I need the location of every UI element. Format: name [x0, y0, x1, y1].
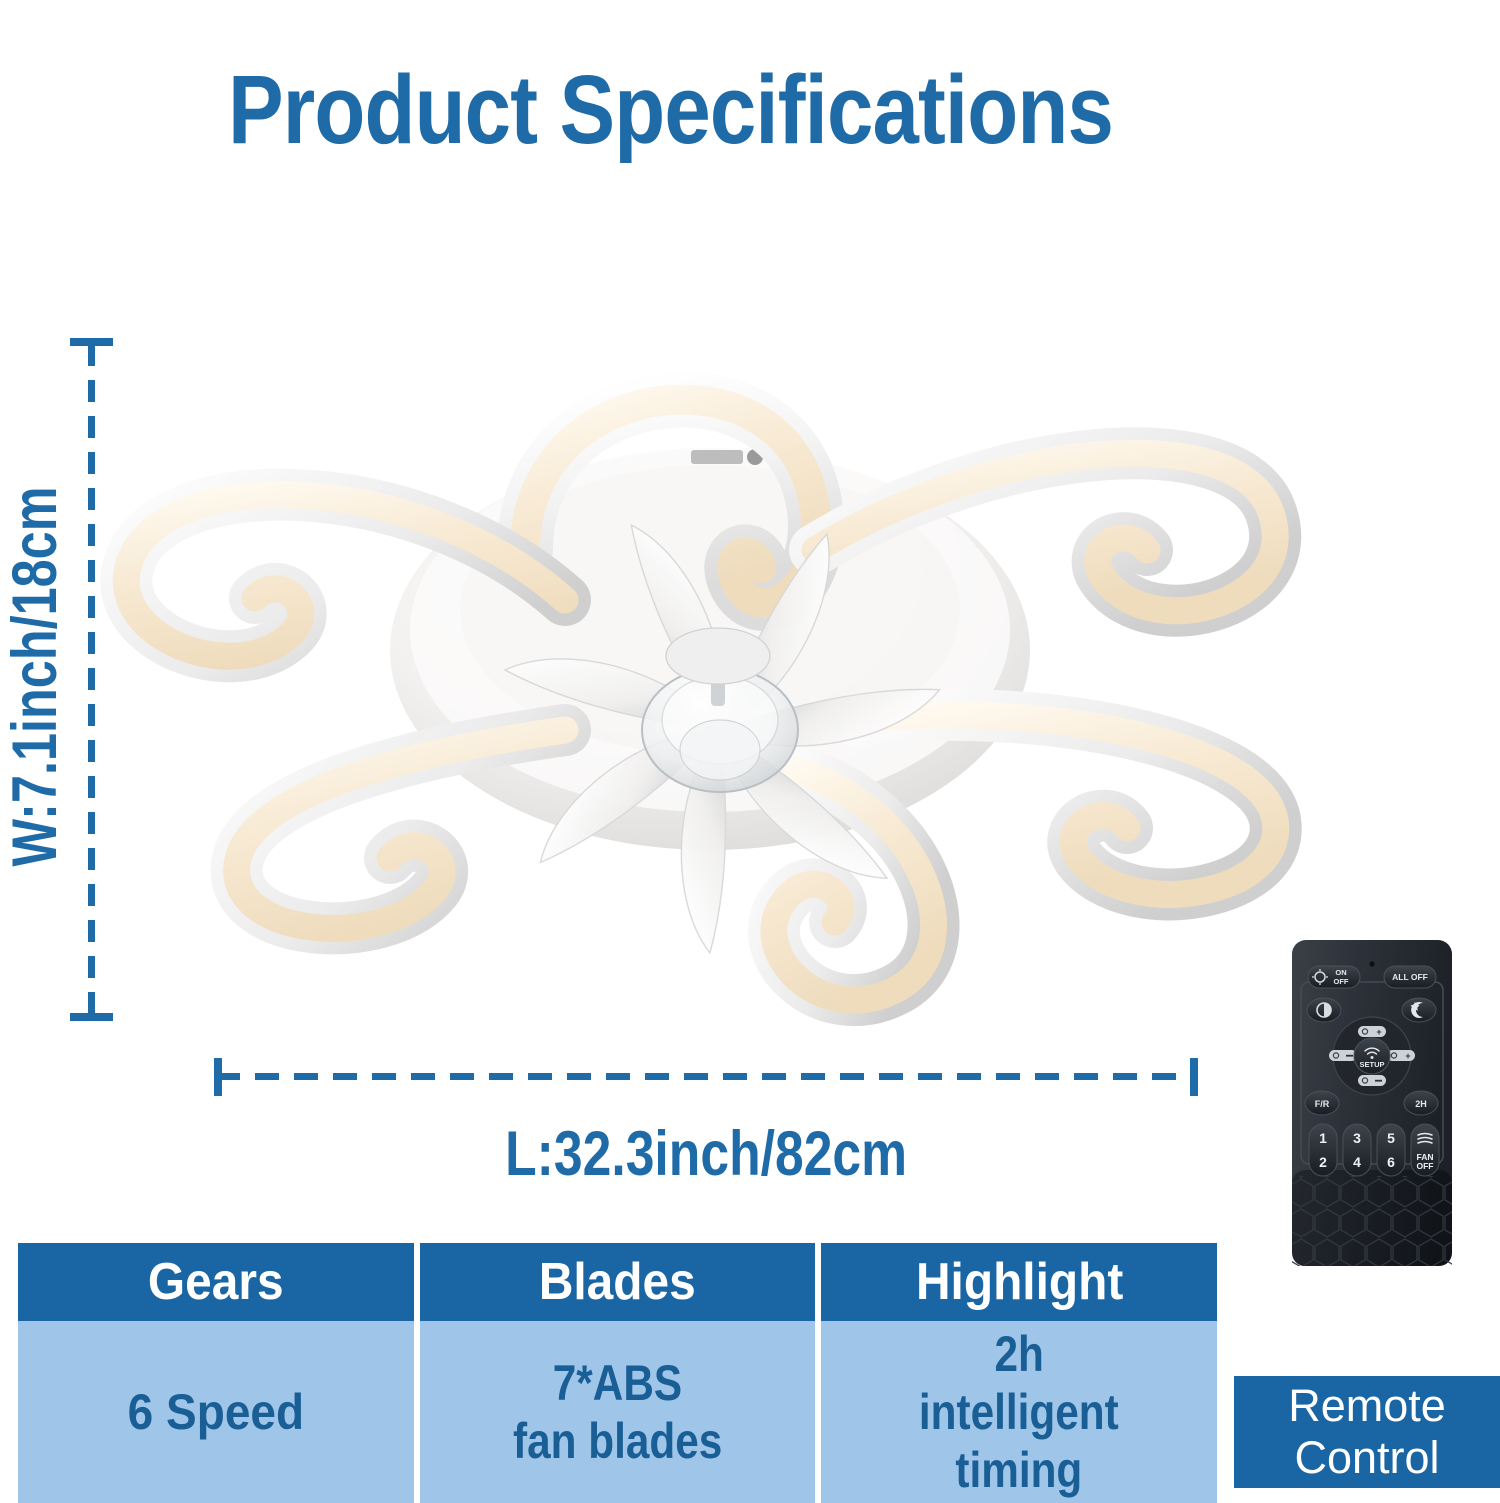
length-dimension-cap-right: [1190, 1058, 1198, 1096]
remote-button-dpad-up: +: [1358, 1026, 1386, 1037]
svg-text:F/R: F/R: [1315, 1099, 1330, 1109]
svg-text:4: 4: [1353, 1154, 1361, 1170]
ir-led: [1369, 961, 1374, 966]
svg-text:OFF: OFF: [1334, 977, 1349, 986]
product-image: [95, 250, 1310, 1040]
spec-value-highlight-line1: 2h: [994, 1325, 1043, 1383]
spec-value-highlight-line2: intelligent timing: [857, 1383, 1182, 1499]
remote-button-speed-3-4: 3 4: [1343, 1124, 1371, 1176]
remote-button-dpad-left: [1329, 1050, 1357, 1061]
spec-value-gears: 6 Speed: [18, 1321, 414, 1503]
length-dimension-line: [216, 1073, 1196, 1080]
width-dimension-text: W:7.1inch/18cm: [0, 486, 71, 866]
svg-text:5: 5: [1387, 1130, 1395, 1146]
spec-value-gears-text: 6 Speed: [128, 1383, 304, 1441]
svg-text:1: 1: [1319, 1130, 1327, 1146]
specification-table: Gears 6 Speed Blades 7*ABSfan blades Hig…: [18, 1243, 1217, 1488]
svg-text:+: +: [1405, 1051, 1410, 1061]
spec-value-blades-line2: fan blades: [513, 1412, 722, 1470]
led-arm-left-lower: [237, 730, 565, 928]
remote-button-all-off: ALL OFF: [1384, 966, 1436, 988]
spec-header-highlight-text: Highlight: [916, 1252, 1123, 1312]
spec-sheet-canvas: Product Specifications W:7.1inch/18cm: [0, 0, 1500, 1500]
svg-text:2H: 2H: [1415, 1099, 1427, 1109]
spec-value-highlight-text: 2hintelligent timing: [843, 1325, 1196, 1499]
svg-text:ON: ON: [1335, 968, 1346, 977]
spec-column-highlight: Highlight 2hintelligent timing: [821, 1243, 1217, 1503]
svg-text:OFF: OFF: [1417, 1161, 1434, 1171]
remote-caption-line1: Remote: [1288, 1380, 1446, 1432]
length-dimension-label: L:32.3inch/82cm: [216, 1118, 1196, 1190]
remote-button-night-mode: [1402, 998, 1436, 1022]
spec-value-blades-line1: 7*ABS: [553, 1354, 682, 1412]
remote-button-power-on-off: ON OFF: [1308, 966, 1360, 988]
svg-text:ALL OFF: ALL OFF: [1392, 972, 1428, 982]
width-dimension-label: W:7.1inch/18cm: [0, 356, 71, 996]
spec-header-highlight: Highlight: [821, 1243, 1217, 1321]
spec-column-blades: Blades 7*ABSfan blades: [420, 1243, 816, 1503]
spec-column-gears: Gears 6 Speed: [18, 1243, 414, 1503]
remote-button-speed-1-2: 1 2: [1309, 1124, 1337, 1176]
svg-text:3: 3: [1353, 1130, 1361, 1146]
remote-button-fan-off: FAN OFF: [1411, 1124, 1439, 1176]
svg-text:SETUP: SETUP: [1359, 1060, 1384, 1069]
spec-value-blades-text: 7*ABSfan blades: [504, 1354, 732, 1470]
page-title: Product Specifications: [228, 58, 1140, 162]
svg-text:2: 2: [1319, 1154, 1327, 1170]
spec-header-gears: Gears: [18, 1243, 414, 1321]
remote-control-image: ON OFF ALL OFF +: [1288, 938, 1456, 1268]
svg-text:6: 6: [1387, 1154, 1395, 1170]
spec-header-gears-text: Gears: [148, 1252, 284, 1312]
spec-value-highlight: 2hintelligent timing: [821, 1321, 1217, 1503]
svg-text:+: +: [1376, 1027, 1381, 1037]
remote-button-timer-2h: 2H: [1404, 1091, 1438, 1115]
spec-value-blades: 7*ABSfan blades: [420, 1321, 816, 1503]
remote-button-forward-reverse: F/R: [1305, 1091, 1339, 1115]
remote-button-setup: SETUP: [1354, 1038, 1390, 1074]
spec-header-blades-text: Blades: [539, 1252, 696, 1312]
remote-caption-line2: Control: [1294, 1432, 1439, 1484]
remote-button-dpad-right: +: [1387, 1050, 1415, 1061]
remote-button-brightness-mode: [1307, 998, 1341, 1022]
width-dimension-line: [88, 344, 95, 1016]
spec-header-blades: Blades: [420, 1243, 816, 1321]
remote-control-caption: Remote Control: [1234, 1376, 1500, 1488]
remote-button-dpad-down: [1358, 1075, 1386, 1086]
remote-button-speed-5-6: 5 6: [1377, 1124, 1405, 1176]
length-dimension-text: L:32.3inch/82cm: [505, 1118, 907, 1190]
